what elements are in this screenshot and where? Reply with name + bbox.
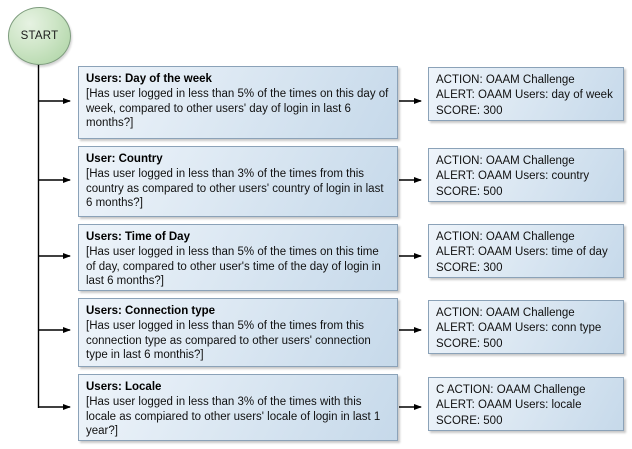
condition-box-time-of-day[interactable]: Users: Time of Day [Has user logged in l…: [78, 224, 398, 291]
condition-box-day-of-the-week[interactable]: Users: Day of the week [Has user logged …: [78, 66, 398, 139]
action-box-day-of-week[interactable]: ACTION: OAAM Challenge ALERT: OAAM Users…: [428, 67, 624, 121]
action-line: ACTION: OAAM Challenge: [436, 306, 616, 321]
action-line: ACTION: OAAM Challenge: [436, 154, 616, 169]
condition-title: Users: Locale: [86, 380, 390, 394]
score-line: SCORE: 500: [436, 185, 616, 200]
condition-text: [Has user logged in less than 3% of the …: [86, 395, 390, 439]
condition-text: [Has user logged in less than 3% of the …: [86, 167, 390, 211]
condition-box-locale[interactable]: Users: Locale [Has user logged in less t…: [78, 374, 398, 441]
score-line: SCORE: 500: [436, 414, 616, 429]
action-box-time-of-day[interactable]: ACTION: OAAM Challenge ALERT: OAAM Users…: [428, 224, 624, 278]
alert-line: ALERT: OAAM Users: conn type: [436, 321, 616, 336]
alert-line: ALERT: OAAM Users: day of week: [436, 88, 616, 103]
score-line: SCORE: 500: [436, 337, 616, 352]
condition-box-country[interactable]: User: Country [Has user logged in less t…: [78, 146, 398, 217]
alert-line: ALERT: OAAM Users: time of day: [436, 245, 616, 260]
start-node[interactable]: START: [8, 7, 71, 65]
condition-title: Users: Connection type: [86, 304, 390, 318]
action-box-country[interactable]: ACTION: OAAM Challenge ALERT: OAAM Users…: [428, 148, 624, 202]
condition-text: [Has user logged in less than 5% of the …: [86, 319, 390, 363]
condition-text: [Has user logged in less than 5% of the …: [86, 245, 390, 289]
alert-line: ALERT: OAAM Users: locale: [436, 398, 616, 413]
condition-title: User: Country: [86, 152, 390, 166]
flowchart-diagram: START Users: Day of the week [Has user l…: [0, 0, 632, 449]
condition-text: [Has user logged in less than 5% of the …: [86, 87, 390, 131]
action-box-connection-type[interactable]: ACTION: OAAM Challenge ALERT: OAAM Users…: [428, 300, 624, 354]
score-line: SCORE: 300: [436, 104, 616, 119]
score-line: SCORE: 300: [436, 261, 616, 276]
condition-box-connection-type[interactable]: Users: Connection type [Has user logged …: [78, 298, 398, 367]
condition-title: Users: Day of the week: [86, 72, 390, 86]
start-node-label: START: [21, 30, 59, 42]
action-line: ACTION: OAAM Challenge: [436, 230, 616, 245]
alert-line: ALERT: OAAM Users: country: [436, 169, 616, 184]
action-line: ACTION: OAAM Challenge: [436, 73, 616, 88]
condition-title: Users: Time of Day: [86, 230, 390, 244]
action-box-locale[interactable]: C ACTION: OAAM Challenge ALERT: OAAM Use…: [428, 377, 624, 431]
action-line: C ACTION: OAAM Challenge: [436, 383, 616, 398]
